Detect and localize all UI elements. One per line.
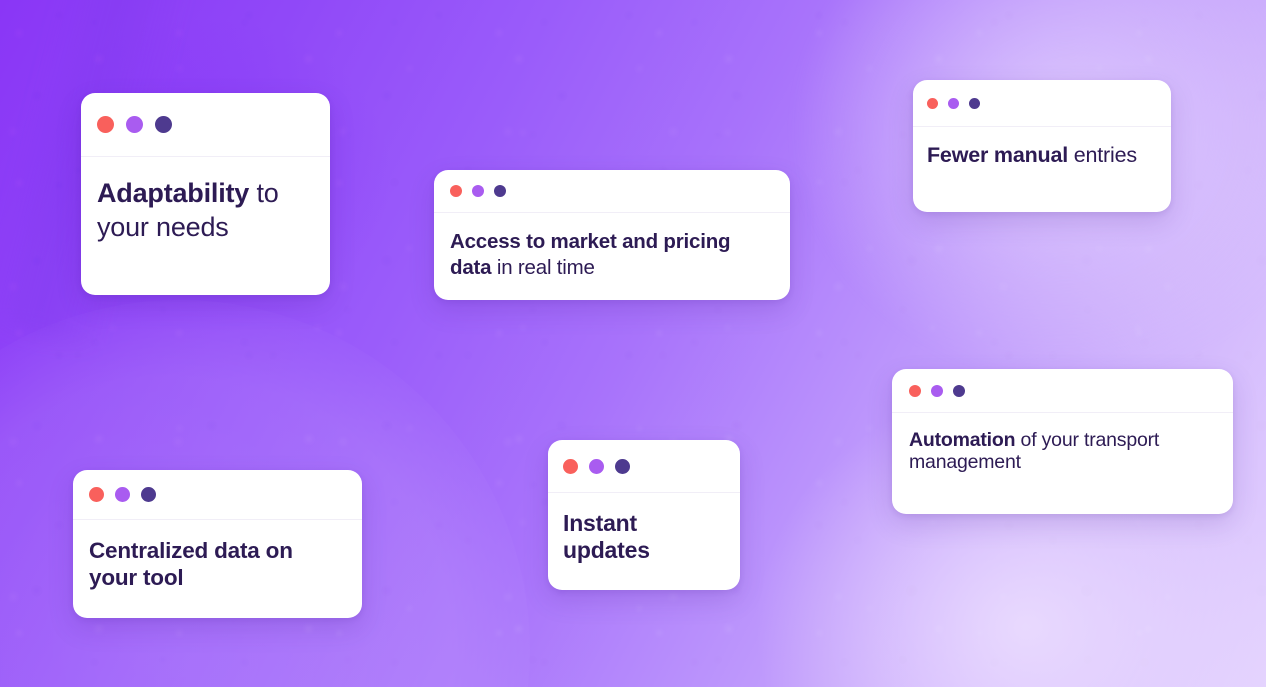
card-heading: Fewer manual entries <box>927 142 1157 168</box>
minimize-dot-icon[interactable] <box>115 487 130 502</box>
maximize-dot-icon[interactable] <box>953 385 965 397</box>
card-heading-bold: Instant updates <box>563 510 650 563</box>
card-heading: Centralized data on your tool <box>89 537 346 591</box>
feature-card-instant-updates[interactable]: Instant updates <box>548 440 740 590</box>
card-heading-bold: Adaptability <box>97 178 249 208</box>
close-dot-icon[interactable] <box>909 385 921 397</box>
maximize-dot-icon[interactable] <box>494 185 506 197</box>
feature-card-centralized-data[interactable]: Centralized data on your tool <box>73 470 362 618</box>
card-titlebar <box>73 470 362 520</box>
card-body: Automation of your transport management <box>892 413 1233 473</box>
card-heading-regular: in real time <box>497 256 595 279</box>
feature-card-adaptability[interactable]: Adaptability to your needs <box>81 93 330 295</box>
maximize-dot-icon[interactable] <box>141 487 156 502</box>
card-body: Instant updates <box>548 493 740 564</box>
card-heading-bold: Fewer manual <box>927 143 1068 167</box>
card-heading: Instant updates <box>563 510 725 564</box>
minimize-dot-icon[interactable] <box>472 185 484 197</box>
card-body: Adaptability to your needs <box>81 157 330 244</box>
card-titlebar <box>892 369 1233 413</box>
card-heading: Access to market and pricing data in rea… <box>450 229 774 281</box>
maximize-dot-icon[interactable] <box>615 459 630 474</box>
feature-cards-canvas: Adaptability to your needs Access to mar… <box>0 0 1266 687</box>
close-dot-icon[interactable] <box>450 185 462 197</box>
card-body: Access to market and pricing data in rea… <box>434 213 790 281</box>
card-body: Fewer manual entries <box>913 127 1171 168</box>
card-heading-regular: entries <box>1074 143 1137 167</box>
close-dot-icon[interactable] <box>563 459 578 474</box>
maximize-dot-icon[interactable] <box>155 116 172 133</box>
card-heading: Adaptability to your needs <box>97 176 314 244</box>
card-titlebar <box>548 440 740 493</box>
close-dot-icon[interactable] <box>927 98 938 109</box>
card-heading-bold: Centralized data on your tool <box>89 538 293 590</box>
card-titlebar <box>434 170 790 213</box>
close-dot-icon[interactable] <box>89 487 104 502</box>
feature-card-fewer-manual-entries[interactable]: Fewer manual entries <box>913 80 1171 212</box>
feature-card-automation[interactable]: Automation of your transport management <box>892 369 1233 514</box>
card-heading: Automation of your transport management <box>909 429 1217 473</box>
card-titlebar <box>81 93 330 157</box>
close-dot-icon[interactable] <box>97 116 114 133</box>
maximize-dot-icon[interactable] <box>969 98 980 109</box>
minimize-dot-icon[interactable] <box>589 459 604 474</box>
feature-card-market-pricing[interactable]: Access to market and pricing data in rea… <box>434 170 790 300</box>
card-body: Centralized data on your tool <box>73 520 362 591</box>
card-heading-bold: Automation <box>909 429 1015 451</box>
minimize-dot-icon[interactable] <box>931 385 943 397</box>
minimize-dot-icon[interactable] <box>126 116 143 133</box>
card-titlebar <box>913 80 1171 127</box>
minimize-dot-icon[interactable] <box>948 98 959 109</box>
